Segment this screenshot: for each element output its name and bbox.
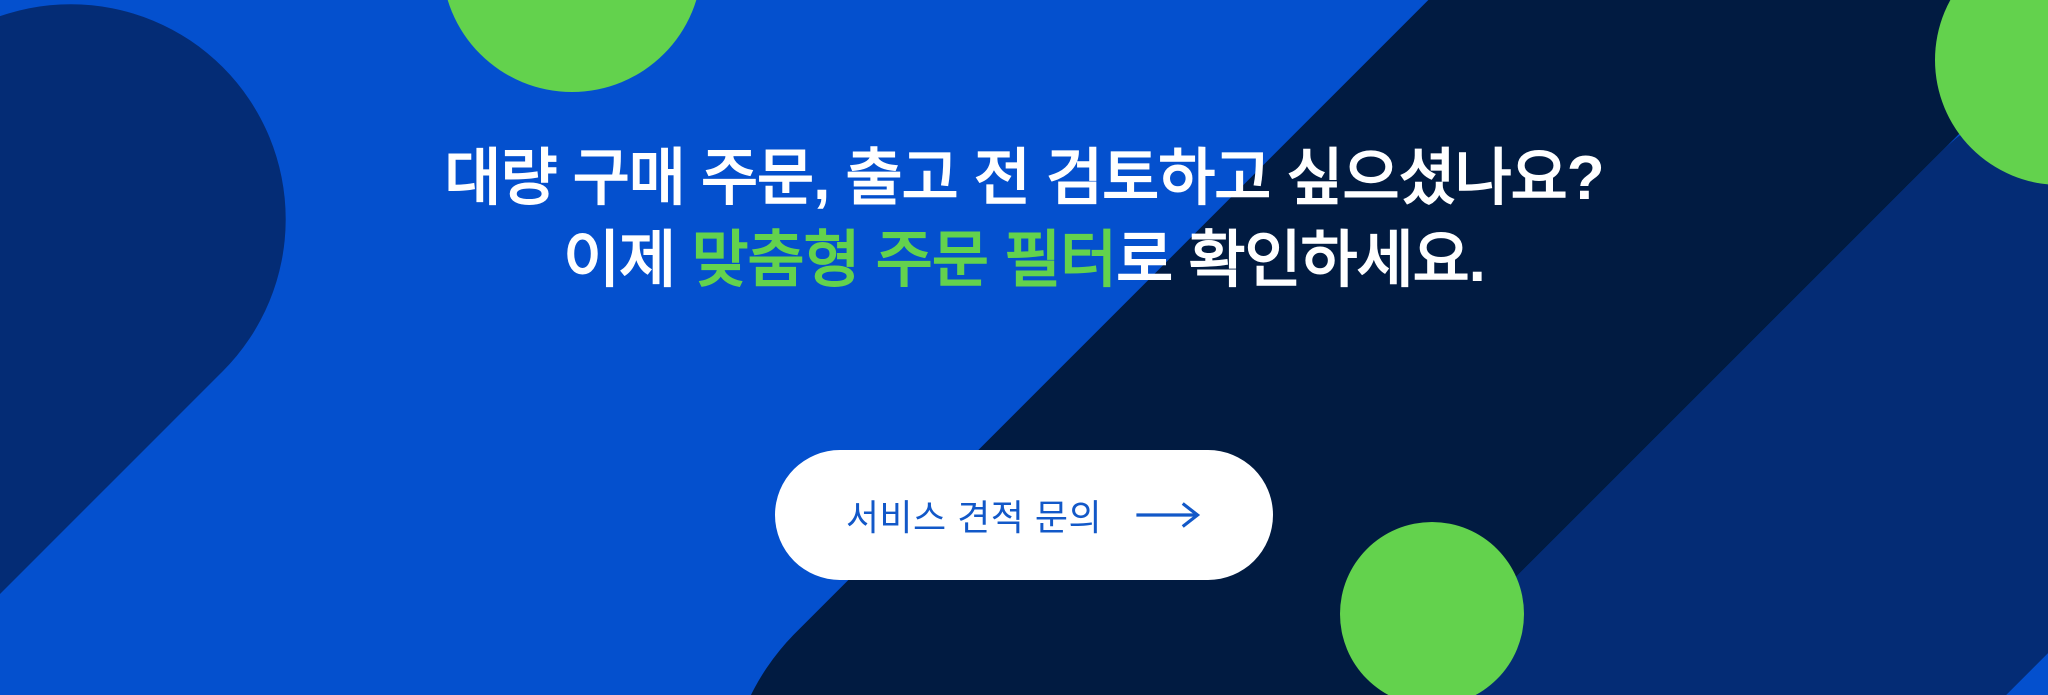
cta-container: 서비스 견적 문의: [0, 450, 2048, 580]
headline-accent-text: 맞춤형 주문 필터: [691, 226, 1116, 295]
headline-line-2-prefix: 이제: [563, 226, 691, 295]
banner-content: 대량 구매 주문, 출고 전 검토하고 싶으셨나요? 이제 맞춤형 주문 필터로…: [0, 0, 2048, 695]
headline-line-2: 이제 맞춤형 주문 필터로 확인하세요.: [0, 220, 2048, 302]
cta-button-label: 서비스 견적 문의: [846, 489, 1102, 541]
promo-banner: 대량 구매 주문, 출고 전 검토하고 싶으셨나요? 이제 맞춤형 주문 필터로…: [0, 0, 2048, 695]
headline-line-1: 대량 구매 주문, 출고 전 검토하고 싶으셨나요?: [0, 138, 2048, 220]
service-quote-inquiry-button[interactable]: 서비스 견적 문의: [775, 450, 1273, 580]
headline-line-2-suffix: 로 확인하세요.: [1116, 226, 1485, 295]
banner-headline: 대량 구매 주문, 출고 전 검토하고 싶으셨나요? 이제 맞춤형 주문 필터로…: [0, 138, 2048, 303]
arrow-right-icon: [1136, 502, 1202, 528]
